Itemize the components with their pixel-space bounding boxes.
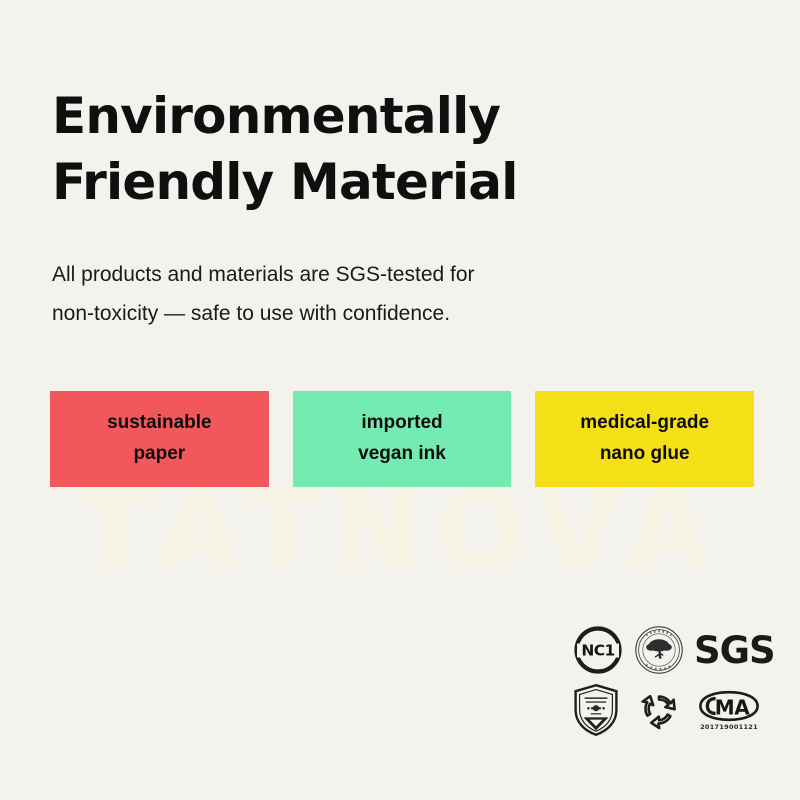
material-chip-label-line-1: sustainable bbox=[107, 408, 212, 439]
page-title-line-2: Friendly Material bbox=[52, 149, 732, 216]
brand-watermark: TATNOVA bbox=[0, 478, 800, 586]
material-chip-label-line-2: paper bbox=[133, 439, 185, 470]
nc1-certification-icon: NC1 bbox=[572, 624, 624, 676]
certification-row-2: MA 201719001121 bbox=[572, 682, 784, 738]
page-title: Environmentally Friendly Material bbox=[52, 83, 732, 216]
material-chip-medical-grade-nano-glue: medical-grade nano glue bbox=[535, 391, 754, 487]
svg-text:NC1: NC1 bbox=[581, 642, 614, 660]
material-chip-list: sustainable paper imported vegan ink med… bbox=[50, 391, 754, 487]
page-subtitle-line-1: All products and materials are SGS-teste… bbox=[52, 263, 475, 286]
certification-badges: NC1 bbox=[572, 622, 784, 738]
svg-text:MA: MA bbox=[715, 695, 750, 719]
material-chip-label-line-1: imported bbox=[361, 408, 442, 439]
material-chip-label-line-1: medical-grade bbox=[580, 408, 709, 439]
material-chip-label-line-2: vegan ink bbox=[358, 439, 446, 470]
material-chip-sustainable-paper: sustainable paper bbox=[50, 391, 269, 487]
recycling-icon bbox=[634, 685, 684, 735]
cma-certification-code: 201719001121 bbox=[700, 723, 758, 731]
sgs-certification-icon: SGS bbox=[694, 632, 775, 669]
material-chip-imported-vegan-ink: imported vegan ink bbox=[293, 391, 512, 487]
certification-row-1: NC1 bbox=[572, 622, 784, 678]
cma-certification-icon: MA 201719001121 bbox=[698, 690, 760, 731]
forest-seal-icon bbox=[634, 625, 684, 675]
page-subtitle: All products and materials are SGS-teste… bbox=[52, 256, 652, 334]
promo-page: TATNOVA Environmentally Friendly Materia… bbox=[0, 0, 800, 800]
material-chip-label-line-2: nano glue bbox=[600, 439, 690, 470]
page-subtitle-line-2: non-toxicity — safe to use with confiden… bbox=[52, 295, 652, 334]
page-title-line-1: Environmentally bbox=[52, 87, 500, 145]
shield-certification-icon bbox=[572, 683, 620, 737]
